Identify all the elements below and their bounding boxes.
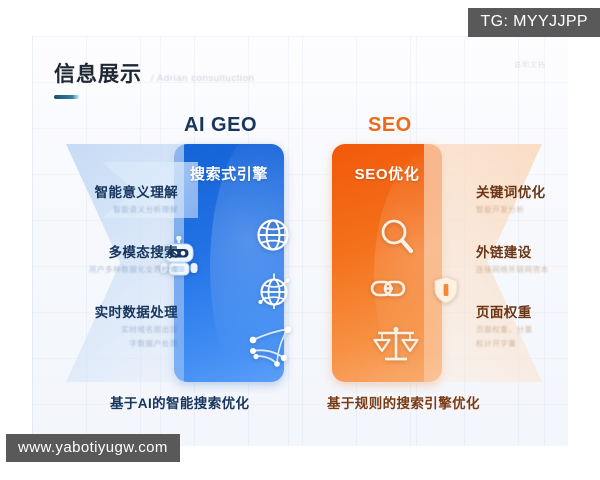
feature-right-3[interactable]: 页面权重 页面权重，分量 权计开字量	[476, 301, 533, 349]
chain-link-icon	[370, 276, 412, 302]
feature-left-2-caption: 用户多种数据化全界检索	[89, 264, 178, 275]
bottom-caption-right: 基于规则的搜索引擎优化	[327, 392, 480, 412]
feature-left-3[interactable]: 实时数据处理 实时域名层出境 字数据户处理	[95, 301, 178, 349]
feature-right-1-title: 关键词优化	[476, 181, 546, 201]
feature-right-3-caption-2: 权计开字量	[476, 338, 533, 349]
feature-left-3-title: 实时数据处理	[95, 301, 178, 321]
website-watermark: www.yabotiyugw.com	[6, 434, 180, 462]
feature-left-2-title: 多模态搜索	[89, 241, 178, 261]
column-title-ai-geo: AI GEO	[184, 114, 257, 137]
column-title-seo: SEO	[368, 114, 412, 137]
feature-right-1[interactable]: 关键词优化 智能开发分析	[476, 181, 546, 215]
network-nodes-icon	[244, 326, 294, 368]
feature-right-2-caption: 连接网络外链网资本	[476, 264, 549, 275]
globe-network-icon	[254, 272, 294, 310]
balance-scale-icon	[373, 324, 419, 366]
feature-right-2-title: 外链建设	[476, 241, 549, 261]
magnifier-icon	[379, 218, 415, 256]
feature-left-1-caption: 智能语义分析理解	[95, 204, 178, 215]
feature-right-2[interactable]: 外链建设 连接网络外链网资本	[476, 241, 549, 275]
slide-canvas: 说明文档 信息展示 / Adrian consultuction AI GEO …	[32, 36, 568, 446]
shield-badge-icon	[431, 275, 461, 305]
seo-badge: SEO优化	[332, 163, 442, 184]
globe-icon	[256, 218, 290, 252]
bottom-caption-left: 基于AI的智能搜索优化	[110, 392, 249, 412]
feature-left-3-caption: 实时域名层出境	[95, 324, 178, 335]
title-underline	[54, 95, 80, 99]
page-subtitle: / Adrian consultuction	[151, 73, 255, 84]
telegram-watermark: TG: MYYJJPP	[468, 8, 600, 37]
feature-right-3-caption: 页面权重，分量	[476, 324, 533, 335]
slide-header: 信息展示 / Adrian consultuction	[54, 58, 255, 99]
faint-corner-watermark: 说明文档	[514, 60, 546, 70]
feature-right-3-title: 页面权重	[476, 301, 533, 321]
feature-left-2[interactable]: 多模态搜索 用户多种数据化全界检索	[89, 241, 178, 275]
feature-left-1-title: 智能意义理解	[95, 181, 178, 201]
feature-right-1-caption: 智能开发分析	[476, 204, 546, 215]
page-title: 信息展示	[54, 58, 142, 88]
ai-geo-badge: 搜索式引擎	[174, 163, 284, 184]
feature-left-1[interactable]: 智能意义理解 智能语义分析理解	[95, 181, 178, 215]
feature-left-3-caption-2: 字数据户处理	[95, 338, 178, 349]
